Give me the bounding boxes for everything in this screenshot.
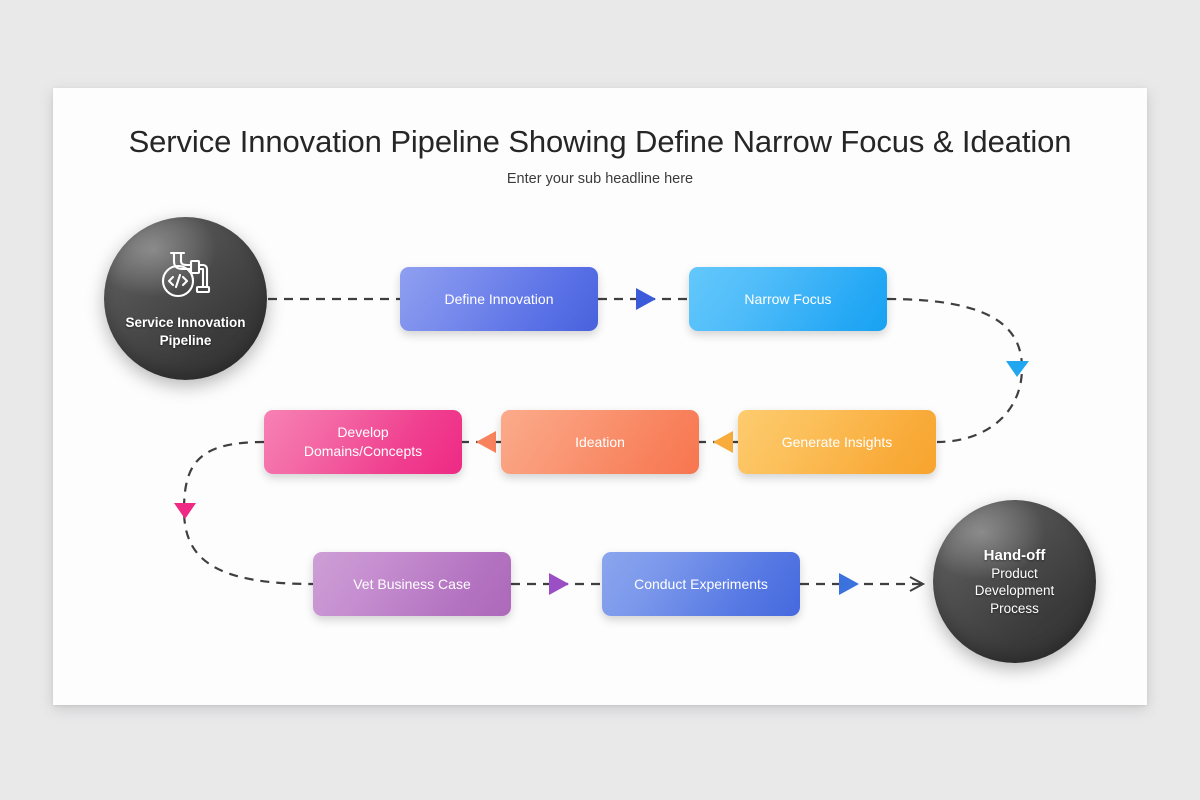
- end-node-handoff[interactable]: Hand-off Product Development Process: [933, 500, 1096, 663]
- page-title: Service Innovation Pipeline Showing Defi…: [53, 124, 1147, 160]
- process-node-develop-domains-concepts-label: Develop Domains/Concepts: [304, 423, 422, 461]
- end-node-subtitle: Product Development Process: [933, 565, 1096, 618]
- process-node-define-innovation-label: Define Innovation: [445, 290, 554, 309]
- process-node-ideation-label: Ideation: [575, 433, 625, 452]
- process-node-develop-domains-concepts[interactable]: Develop Domains/Concepts: [264, 410, 462, 474]
- process-node-ideation[interactable]: Ideation: [501, 410, 699, 474]
- process-node-generate-insights-label: Generate Insights: [782, 433, 893, 452]
- process-node-conduct-experiments-label: Conduct Experiments: [634, 575, 768, 594]
- page-subtitle: Enter your sub headline here: [53, 171, 1147, 187]
- process-node-conduct-experiments[interactable]: Conduct Experiments: [602, 552, 800, 616]
- flask-code-pipeline-icon: [155, 247, 217, 308]
- start-node-label: Service Innovation Pipeline: [104, 314, 267, 350]
- process-node-generate-insights[interactable]: Generate Insights: [738, 410, 936, 474]
- develop-label-line1: Develop: [337, 424, 388, 440]
- process-node-vet-business-case[interactable]: Vet Business Case: [313, 552, 511, 616]
- slide-stage: Service Innovation Pipeline Showing Defi…: [0, 0, 1200, 800]
- process-node-narrow-focus-label: Narrow Focus: [744, 290, 831, 309]
- process-node-define-innovation[interactable]: Define Innovation: [400, 267, 598, 331]
- start-node-service-innovation-pipeline[interactable]: Service Innovation Pipeline: [104, 217, 267, 380]
- process-node-vet-business-case-label: Vet Business Case: [353, 575, 471, 594]
- end-node-title: Hand-off: [984, 546, 1046, 565]
- develop-label-line2: Domains/Concepts: [304, 443, 422, 459]
- process-node-narrow-focus[interactable]: Narrow Focus: [689, 267, 887, 331]
